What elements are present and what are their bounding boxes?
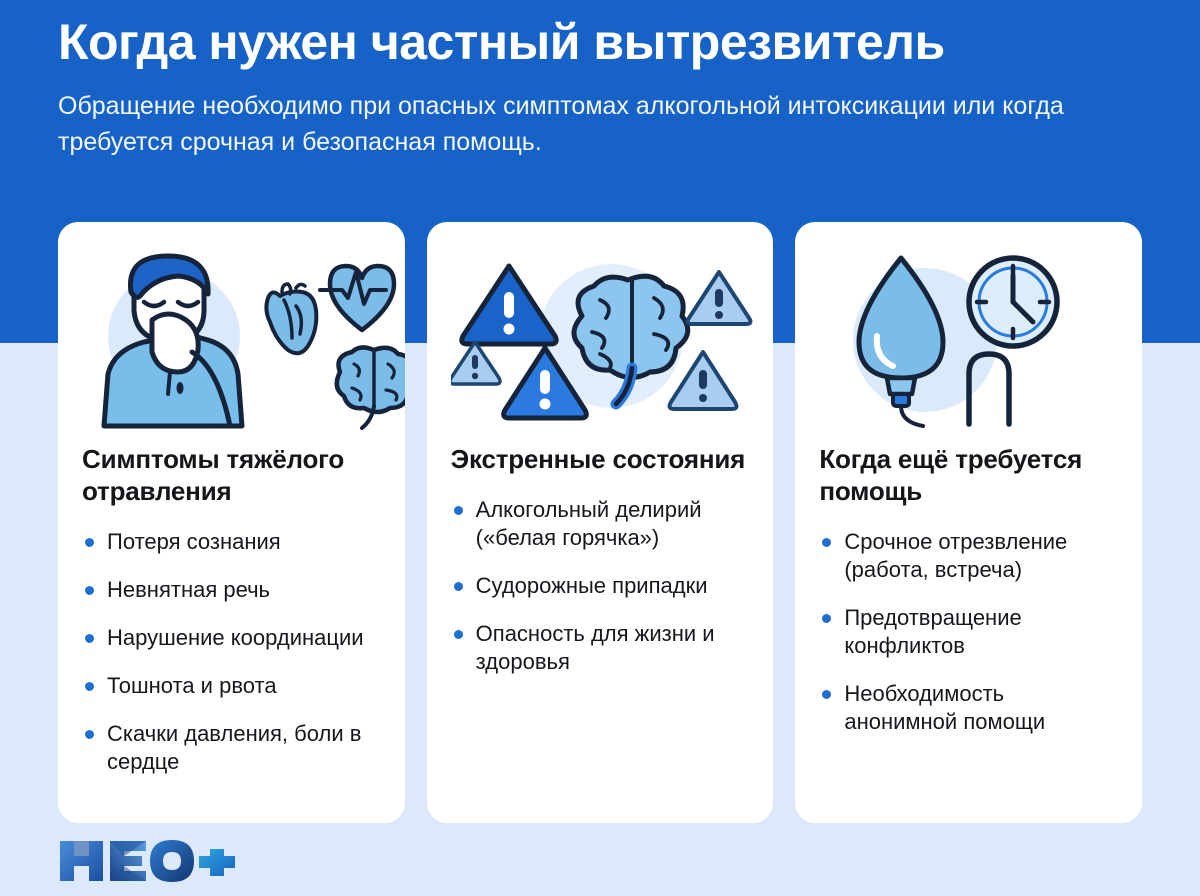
- bullet-list: Алкогольный делирий («белая горячка») Су…: [451, 496, 750, 696]
- list-item: Алкогольный делирий («белая горячка»): [451, 496, 750, 552]
- list-item: Необходимость анонимной помощи: [819, 680, 1118, 736]
- list-item: Нарушение координации: [82, 624, 381, 652]
- page-subtitle: Обращение необходимо при опасных симптом…: [58, 89, 1088, 160]
- clock-icon: [969, 258, 1057, 346]
- list-item: Потеря сознания: [82, 528, 381, 556]
- brain-warning-triangles-illustration: [451, 248, 750, 430]
- list-item: Опасность для жизни и здоровья: [451, 620, 750, 676]
- list-item: Тошнота и рвота: [82, 672, 381, 700]
- warning-triangle-icon: [687, 272, 750, 324]
- page-title: Когда нужен частный вытрезвитель: [58, 14, 1148, 70]
- warning-triangle-icon: [461, 266, 555, 344]
- card-title: Экстренные состояния: [451, 444, 750, 476]
- iv-drip-clock-illustration: [819, 248, 1118, 430]
- list-item: Судорожные припадки: [451, 572, 750, 600]
- nauseous-man-heart-brain-illustration: [82, 248, 381, 430]
- list-item: Срочное отрезвление (работа, встреча): [819, 528, 1118, 584]
- card-title: Симптомы тяжёлого отравления: [82, 444, 381, 508]
- neo-plus-logo[interactable]: [58, 840, 236, 882]
- warning-triangle-icon: [451, 342, 500, 384]
- list-item: Скачки давления, боли в сердце: [82, 720, 381, 776]
- card-severe-poisoning[interactable]: Симптомы тяжёлого отравления Потеря созн…: [58, 222, 405, 823]
- warning-triangle-icon: [669, 352, 736, 409]
- card-title: Когда ещё требуется помощь: [819, 444, 1118, 508]
- list-item: Предотвращение конфликтов: [819, 604, 1118, 660]
- list-item: Невнятная речь: [82, 576, 381, 604]
- card-when-else-help[interactable]: Когда ещё требуется помощь Срочное отрез…: [795, 222, 1142, 823]
- bullet-list: Потеря сознания Невнятная речь Нарушение…: [82, 528, 381, 796]
- bullet-list: Срочное отрезвление (работа, встреча) Пр…: [819, 528, 1118, 756]
- card-emergency-states[interactable]: Экстренные состояния Алкогольный делирий…: [427, 222, 774, 823]
- cards-row: Симптомы тяжёлого отравления Потеря созн…: [58, 222, 1142, 823]
- header-content: Когда нужен частный вытрезвитель Обращен…: [58, 14, 1148, 160]
